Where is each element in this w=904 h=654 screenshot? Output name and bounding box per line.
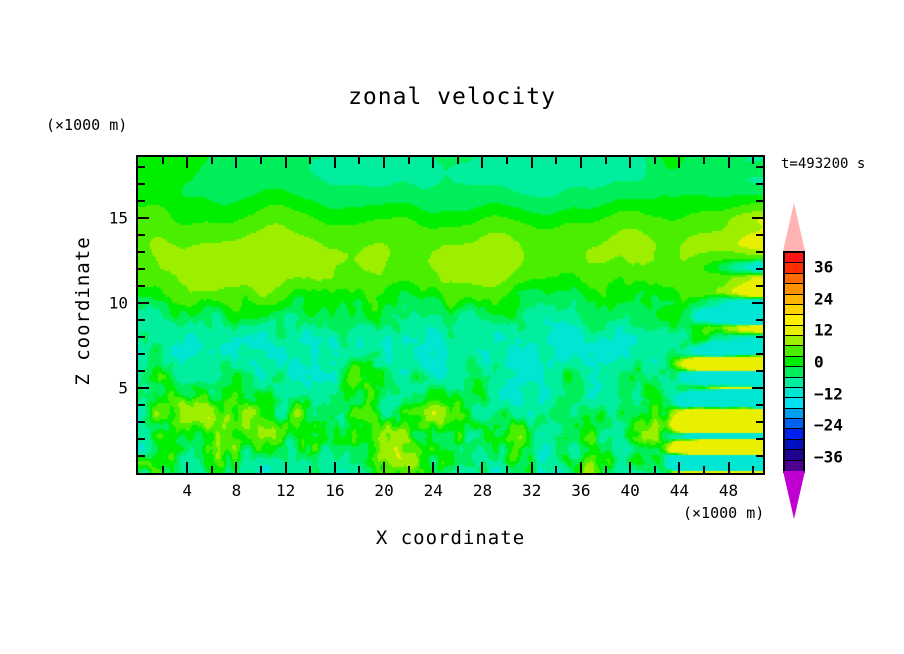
colorbar-tick-label: 24 <box>814 289 833 308</box>
y-axis-minor-tick <box>756 353 763 355</box>
colorbar-band <box>785 409 803 419</box>
colorbar[interactable] <box>781 203 807 519</box>
x-axis-tick <box>186 462 188 473</box>
x-axis-tick-label: 24 <box>424 481 443 500</box>
x-axis-tick-label: 40 <box>620 481 639 500</box>
colorbar-band <box>785 336 803 346</box>
x-axis-tick-label: 8 <box>232 481 242 500</box>
y-axis-minor-tick <box>756 404 763 406</box>
x-axis-tick <box>629 157 631 168</box>
y-axis-tick <box>138 387 149 389</box>
x-axis-minor-tick <box>211 466 213 473</box>
colorbar-band <box>785 450 803 460</box>
colorbar-band <box>785 274 803 284</box>
x-axis-minor-tick <box>260 157 262 164</box>
page-title: zonal velocity <box>0 84 904 110</box>
contour-plot-area[interactable] <box>136 155 765 475</box>
x-axis-tick <box>285 462 287 473</box>
y-axis-tick <box>138 302 149 304</box>
y-axis-tick <box>752 302 763 304</box>
x-axis-tick-label: 12 <box>276 481 295 500</box>
x-axis-tick <box>481 462 483 473</box>
x-axis-minor-tick <box>752 157 754 164</box>
y-axis-minor-tick <box>138 353 145 355</box>
x-axis-tick <box>383 157 385 168</box>
colorbar-tick-label: 0 <box>814 353 824 372</box>
x-axis-minor-tick <box>309 157 311 164</box>
colorbar-band <box>785 295 803 305</box>
y-axis-minor-tick <box>756 183 763 185</box>
colorbar-band <box>785 378 803 388</box>
x-axis-tick <box>235 157 237 168</box>
x-axis-tick-label: 16 <box>325 481 344 500</box>
colorbar-tick-label: −24 <box>814 416 843 435</box>
x-axis-tick <box>481 157 483 168</box>
y-axis-minor-tick <box>756 166 763 168</box>
colorbar-band <box>785 388 803 398</box>
y-axis-minor-tick <box>138 438 145 440</box>
x-axis-tick-label: 48 <box>719 481 738 500</box>
x-axis-tick-label: 44 <box>670 481 689 500</box>
colorbar-band <box>785 284 803 294</box>
y-axis-minor-tick <box>756 319 763 321</box>
x-axis-unit-label: (×1000 m) <box>683 504 764 522</box>
colorbar-under-arrow-icon <box>783 471 805 519</box>
y-axis-minor-tick <box>138 370 145 372</box>
x-axis-minor-tick <box>211 157 213 164</box>
x-axis-tick <box>531 462 533 473</box>
x-axis-tick <box>580 462 582 473</box>
x-axis-title: X coordinate <box>136 527 765 549</box>
y-axis-minor-tick <box>138 455 145 457</box>
y-axis-minor-tick <box>756 370 763 372</box>
colorbar-band <box>785 398 803 408</box>
x-axis-tick-label: 28 <box>473 481 492 500</box>
x-axis-minor-tick <box>162 466 164 473</box>
x-axis-minor-tick <box>408 466 410 473</box>
x-axis-minor-tick <box>752 466 754 473</box>
x-axis-tick-label: 36 <box>571 481 590 500</box>
y-axis-minor-tick <box>138 200 145 202</box>
x-axis-minor-tick <box>555 466 557 473</box>
x-axis-tick <box>678 462 680 473</box>
y-axis-minor-tick <box>756 285 763 287</box>
y-axis-minor-tick <box>756 251 763 253</box>
y-axis-minor-tick <box>756 438 763 440</box>
colorbar-band <box>785 326 803 336</box>
x-axis-minor-tick <box>457 157 459 164</box>
colorbar-band <box>785 346 803 356</box>
colorbar-band <box>785 429 803 439</box>
colorbar-band <box>785 315 803 325</box>
y-axis-minor-tick <box>138 251 145 253</box>
y-axis-minor-tick <box>138 166 145 168</box>
colorbar-bands <box>783 251 805 473</box>
y-axis-unit-label: (×1000 m) <box>46 116 127 134</box>
y-axis-minor-tick <box>138 404 145 406</box>
colorbar-band <box>785 440 803 450</box>
x-axis-tick <box>728 462 730 473</box>
colorbar-tick-label: −12 <box>814 384 843 403</box>
x-axis-minor-tick <box>309 466 311 473</box>
x-axis-tick <box>728 157 730 168</box>
y-axis-tick-label: 5 <box>90 379 128 398</box>
x-axis-tick <box>285 157 287 168</box>
x-axis-minor-tick <box>506 466 508 473</box>
x-axis-minor-tick <box>654 466 656 473</box>
x-axis-tick <box>235 462 237 473</box>
colorbar-band <box>785 253 803 263</box>
x-axis-minor-tick <box>605 466 607 473</box>
y-axis-minor-tick <box>756 455 763 457</box>
y-axis-minor-tick <box>138 268 145 270</box>
x-axis-tick <box>186 157 188 168</box>
colorbar-band <box>785 367 803 377</box>
x-axis-tick <box>383 462 385 473</box>
y-axis-tick-label: 15 <box>90 209 128 228</box>
colorbar-band <box>785 357 803 367</box>
y-axis-minor-tick <box>138 183 145 185</box>
x-axis-minor-tick <box>555 157 557 164</box>
y-axis-minor-tick <box>756 234 763 236</box>
y-axis-tick <box>752 217 763 219</box>
x-axis-tick <box>432 462 434 473</box>
x-axis-tick <box>678 157 680 168</box>
colorbar-band <box>785 263 803 273</box>
x-axis-minor-tick <box>654 157 656 164</box>
x-axis-minor-tick <box>703 466 705 473</box>
x-axis-tick-label: 32 <box>522 481 541 500</box>
y-axis-minor-tick <box>138 319 145 321</box>
x-axis-tick-label: 4 <box>182 481 192 500</box>
x-axis-tick-label: 20 <box>374 481 393 500</box>
y-axis-tick <box>752 387 763 389</box>
y-axis-minor-tick <box>756 200 763 202</box>
timestamp-annotation: t=493200 s <box>781 156 865 172</box>
y-axis-minor-tick <box>138 234 145 236</box>
x-axis-minor-tick <box>408 157 410 164</box>
x-axis-minor-tick <box>358 157 360 164</box>
colorbar-tick-label: −36 <box>814 448 843 467</box>
x-axis-minor-tick <box>358 466 360 473</box>
x-axis-tick <box>531 157 533 168</box>
y-axis-tick-label: 10 <box>90 294 128 313</box>
y-axis-minor-tick <box>138 336 145 338</box>
x-axis-minor-tick <box>162 157 164 164</box>
x-axis-minor-tick <box>457 466 459 473</box>
colorbar-band <box>785 305 803 315</box>
y-axis-minor-tick <box>756 421 763 423</box>
colorbar-tick-label: 36 <box>814 257 833 276</box>
x-axis-tick <box>432 157 434 168</box>
x-axis-tick <box>629 462 631 473</box>
x-axis-minor-tick <box>605 157 607 164</box>
y-axis-tick <box>138 217 149 219</box>
colorbar-over-arrow-icon <box>783 203 805 251</box>
x-axis-tick <box>334 157 336 168</box>
y-axis-minor-tick <box>756 336 763 338</box>
y-axis-minor-tick <box>756 268 763 270</box>
y-axis-minor-tick <box>138 285 145 287</box>
y-axis-minor-tick <box>138 421 145 423</box>
x-axis-minor-tick <box>703 157 705 164</box>
y-axis-title: Z coordinate <box>72 211 94 411</box>
x-axis-tick <box>334 462 336 473</box>
x-axis-minor-tick <box>260 466 262 473</box>
x-axis-tick <box>580 157 582 168</box>
x-axis-minor-tick <box>506 157 508 164</box>
colorbar-band <box>785 461 803 471</box>
colorbar-band <box>785 419 803 429</box>
colorbar-tick-label: 12 <box>814 321 833 340</box>
contour-field-canvas <box>138 157 763 473</box>
